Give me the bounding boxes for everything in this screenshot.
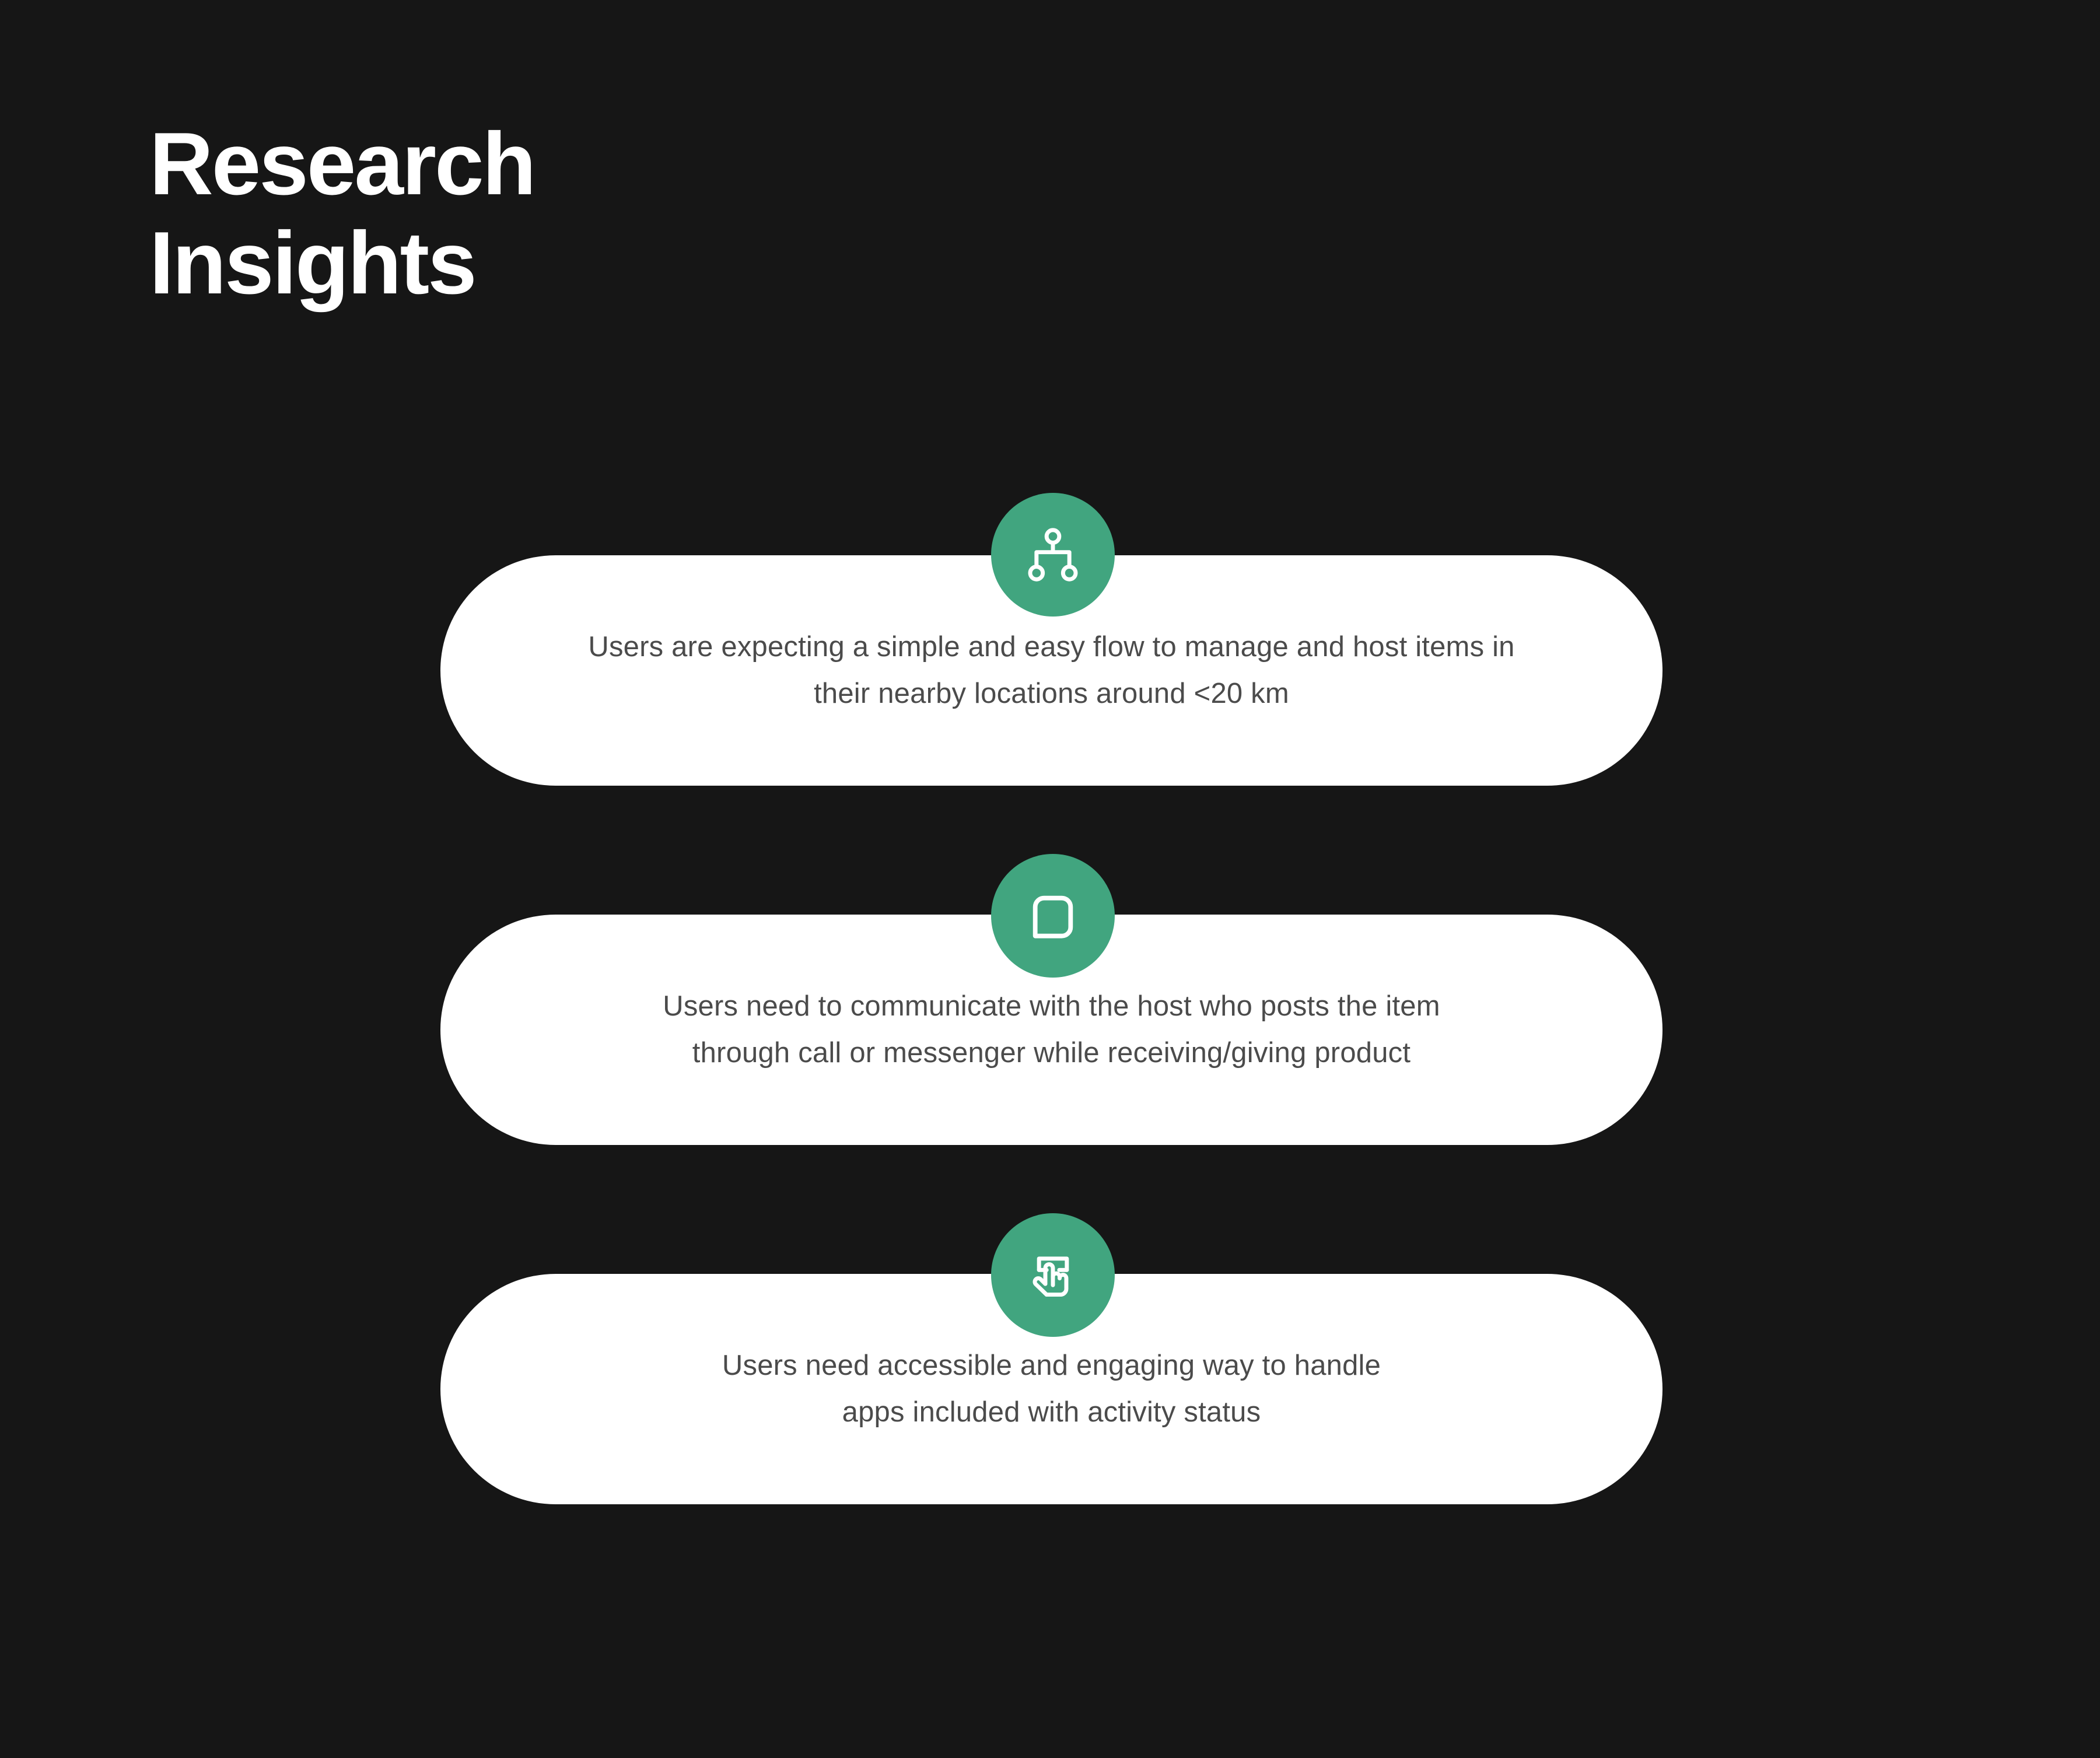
- insight-item: Users are expecting a simple and easy fl…: [0, 493, 2100, 852]
- insight-text-line-2: their nearby locations around <20 km: [556, 671, 1548, 717]
- insight-text-line-1: Users need accessible and engaging way t…: [556, 1343, 1548, 1389]
- insight-item: Users need accessible and engaging way t…: [0, 1211, 2100, 1571]
- tap-gesture-icon: [991, 1213, 1115, 1337]
- page-title-line-2: Insights: [149, 213, 966, 313]
- insight-text: Users need to communicate with the host …: [468, 983, 1635, 1076]
- hierarchy-icon: [991, 493, 1115, 617]
- insight-list: Users are expecting a simple and easy fl…: [0, 493, 2100, 1571]
- insight-text-line-2: through call or messenger while receivin…: [556, 1030, 1548, 1076]
- research-insights-slide: Research Insights Users are expecting a …: [0, 0, 2100, 1758]
- insight-item: Users need to communicate with the host …: [0, 852, 2100, 1211]
- insight-text: Users need accessible and engaging way t…: [468, 1343, 1635, 1435]
- insight-text-line-2: apps included with activity status: [556, 1389, 1548, 1435]
- insight-text-line-1: Users need to communicate with the host …: [556, 983, 1548, 1029]
- page-title-line-1: Research: [149, 114, 966, 213]
- message-bubble-icon: [991, 854, 1115, 978]
- insight-text: Users are expecting a simple and easy fl…: [468, 624, 1635, 717]
- insight-text-line-1: Users are expecting a simple and easy fl…: [556, 624, 1548, 670]
- page-title: Research Insights: [149, 114, 966, 313]
